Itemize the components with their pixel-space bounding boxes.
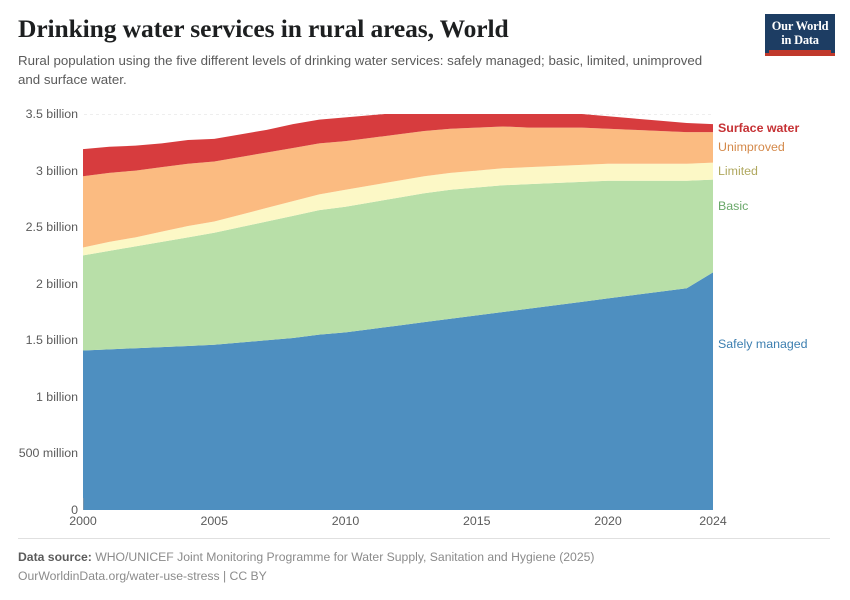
plot-region[interactable] (83, 114, 713, 510)
data-source-label: Data source: (18, 550, 92, 564)
license-line[interactable]: OurWorldinData.org/water-use-stress | CC… (18, 567, 830, 586)
y-axis-tick-label: 2.5 billion (26, 220, 78, 234)
owid-logo-rule (769, 50, 831, 53)
page-subtitle: Rural population using the five differen… (18, 52, 708, 89)
owid-logo-line1: Our World (769, 19, 831, 33)
y-axis-tick-label: 1.5 billion (26, 333, 78, 347)
series-label-safely-managed[interactable]: Safely managed (718, 337, 808, 349)
x-axis-tick-label: 2010 (332, 514, 360, 528)
stacked-area-svg (83, 114, 713, 510)
data-source-line: Data source: WHO/UNICEF Joint Monitoring… (18, 548, 830, 567)
x-axis-tick-label: 2020 (594, 514, 622, 528)
x-axis-tick-label: 2024 (699, 514, 727, 528)
chart-page: Drinking water services in rural areas, … (0, 0, 850, 600)
y-axis-tick-label: 500 million (19, 446, 78, 460)
series-label-limited[interactable]: Limited (718, 165, 758, 177)
y-axis: 0500 million1 billion1.5 billion2 billio… (0, 114, 78, 510)
series-label-surface-water[interactable]: Surface water (718, 122, 799, 134)
x-axis-tick-label: 2015 (463, 514, 491, 528)
chart-area: 0500 million1 billion1.5 billion2 billio… (0, 100, 850, 535)
y-axis-tick-label: 3 billion (36, 164, 78, 178)
chart-footer: Data source: WHO/UNICEF Joint Monitoring… (18, 538, 830, 586)
x-axis-tick-label: 2000 (69, 514, 97, 528)
series-label-basic[interactable]: Basic (718, 199, 748, 211)
chart-header: Drinking water services in rural areas, … (18, 14, 758, 89)
y-axis-tick-label: 2 billion (36, 277, 78, 291)
owid-logo[interactable]: Our World in Data (765, 14, 835, 56)
x-axis-tick-label: 2005 (200, 514, 228, 528)
x-axis: 200020052010201520202024 (83, 514, 713, 536)
series-label-unimproved[interactable]: Unimproved (718, 141, 785, 153)
page-title: Drinking water services in rural areas, … (18, 14, 758, 43)
data-source-text: WHO/UNICEF Joint Monitoring Programme fo… (95, 550, 594, 564)
series-labels: Surface waterUnimprovedLimitedBasicSafel… (718, 114, 850, 510)
y-axis-tick-label: 1 billion (36, 390, 78, 404)
owid-logo-line2: in Data (769, 33, 831, 47)
y-axis-tick-label: 3.5 billion (26, 107, 78, 121)
